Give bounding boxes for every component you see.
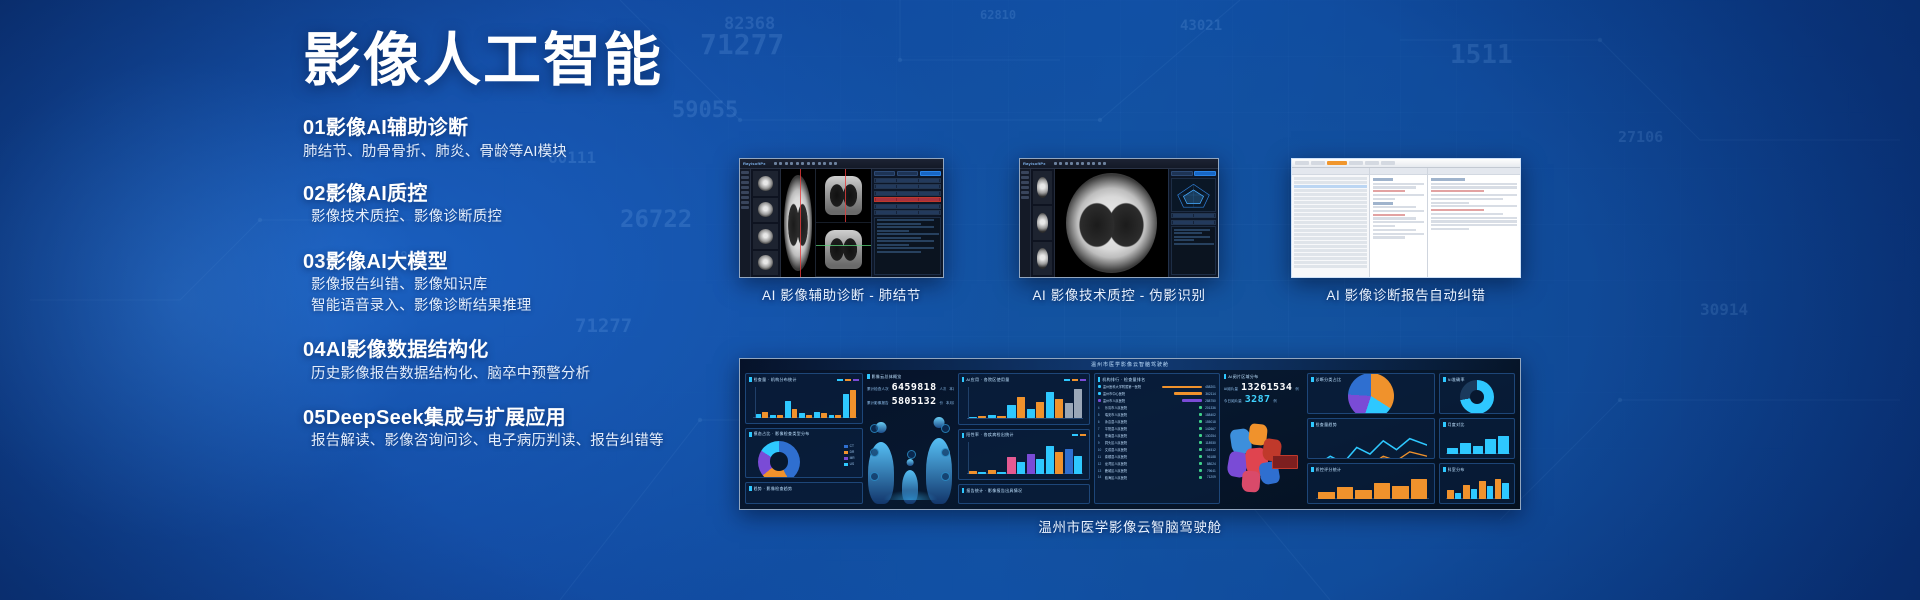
card-tag (749, 432, 752, 437)
bar-chart (1447, 476, 1509, 498)
toolbar-button[interactable] (1349, 161, 1363, 165)
doc-line (1373, 206, 1416, 208)
card-tag (1443, 422, 1446, 427)
ranking-row[interactable]: 10文成县人民医院104512 (1098, 447, 1216, 452)
background-vignette (0, 0, 1920, 600)
correction-line (1431, 228, 1469, 230)
ct-secondary-viewports[interactable] (815, 169, 871, 277)
card-legend (1064, 379, 1086, 381)
toolbar-icon[interactable] (1103, 162, 1106, 165)
toolbar-icon[interactable] (1054, 162, 1057, 165)
dashboard-column-1: 检查量 · 机构分布统计 (745, 373, 863, 504)
toolbar-icon[interactable] (1065, 162, 1068, 165)
qc-buttons[interactable] (1171, 171, 1216, 176)
ranking-row[interactable]: 8苍南县人民医院130254 (1098, 433, 1216, 438)
rank-chip (1199, 413, 1202, 416)
kpi-value: 13261534 (1241, 382, 1292, 393)
card-region-map[interactable]: AI阅片区域分布 AI阅片量 13261534 例 今日阅片量 3287 (1224, 373, 1303, 504)
report-text-area[interactable] (874, 217, 941, 276)
card-header: 机构排行 · 检查量排名 (1098, 376, 1216, 383)
feature-desc-03: 影像报告纠错、影像知识库 智能语音录入、影像诊断结果推理 (303, 275, 723, 317)
toolbar-icon[interactable] (1081, 162, 1084, 165)
worklist-row[interactable] (1294, 253, 1367, 256)
screenshot-panel-ai-diagnosis[interactable]: RayisoftPx (739, 158, 944, 278)
worklist-row[interactable] (1294, 261, 1367, 264)
rail-icon[interactable] (741, 201, 749, 204)
thumbnail[interactable] (1033, 206, 1052, 239)
series-thumbnails[interactable] (751, 169, 781, 277)
findings-panel[interactable] (871, 169, 943, 277)
rank-name: 苍南县人民医院 (1105, 433, 1197, 438)
findings-button[interactable] (874, 171, 895, 176)
card-tag (1311, 467, 1314, 472)
toolbar-icon[interactable] (774, 162, 777, 165)
worklist-row[interactable] (1294, 237, 1367, 240)
doc-line (1373, 210, 1424, 212)
thumbnail[interactable] (753, 198, 778, 223)
ct-axial-image (1066, 173, 1156, 272)
worklist-header (1292, 168, 1369, 175)
ranking-row[interactable]: 7平阳县人民医院142667 (1098, 426, 1216, 431)
correction-line (1431, 202, 1469, 204)
rank-chip (1199, 434, 1202, 437)
doc-line (1373, 217, 1416, 219)
card-report-summary[interactable]: 报告统计 · 影像报告出具情况 (958, 484, 1090, 504)
worklist-rows[interactable] (1292, 175, 1369, 277)
worklist-row[interactable] (1294, 177, 1367, 180)
worklist-row[interactable] (1294, 233, 1367, 236)
pacs-left-rail[interactable] (1020, 169, 1031, 277)
rank-chip (1098, 385, 1101, 388)
bar-chart (1447, 431, 1509, 453)
card-title: AI准确率 (1448, 377, 1465, 383)
card-tag (1443, 467, 1446, 472)
rank-name: 文成县人民医院 (1105, 447, 1197, 452)
pacs-left-rail[interactable] (740, 169, 751, 277)
finding-row[interactable] (874, 204, 941, 209)
card-exam-volume[interactable]: 检查量 · 机构分布统计 (745, 373, 863, 424)
findings-buttons[interactable] (874, 171, 941, 176)
toolbar-icon[interactable] (829, 162, 832, 165)
worklist-row[interactable] (1294, 201, 1367, 204)
kpi-label: AI阅片量 (1224, 387, 1238, 392)
card-trend-mini[interactable]: 趋势 · 影像检查趋势 (745, 482, 863, 504)
toolbar-icon[interactable] (1092, 162, 1095, 165)
dashboard: 温州市医学影像云智脑驾驶舱 检查量 · 机构分布统计 (740, 359, 1520, 509)
ct-coronal-viewport[interactable] (816, 169, 871, 223)
card-tag (962, 433, 965, 438)
rank-name: 温州市中心医院 (1103, 391, 1172, 396)
dashboard-column-6: 诊断分类占比 检查量趋势 (1307, 373, 1435, 504)
ct-axial-viewport[interactable] (781, 169, 815, 277)
toolbar-icon[interactable] (796, 162, 799, 165)
rank-value: 458201 (1204, 385, 1216, 389)
toolbar-button[interactable] (1365, 161, 1379, 165)
rank-value: 79641 (1204, 469, 1216, 473)
toolbar-icon[interactable] (823, 162, 826, 165)
ct-sagittal-viewport[interactable] (816, 223, 871, 277)
card-tag (1098, 377, 1101, 382)
finding-row[interactable] (874, 184, 941, 189)
rank-chip (1199, 476, 1202, 479)
rail-icon[interactable] (1021, 196, 1029, 199)
card-header: 趋势 · 影像检查趋势 (749, 485, 859, 492)
worklist-row[interactable] (1294, 257, 1367, 260)
card-legend (837, 379, 859, 381)
screenshot-frame: RayisoftPx (739, 158, 944, 278)
thumbnail[interactable] (753, 224, 778, 249)
card-tag (1224, 374, 1227, 379)
thumb-image (758, 202, 774, 217)
ranking-row[interactable]: 温州市中心医院362114 (1098, 391, 1216, 396)
toolbar-icon[interactable] (1076, 162, 1079, 165)
thumb-image (1037, 213, 1049, 234)
rail-icon[interactable] (741, 181, 749, 184)
rail-icon[interactable] (1021, 171, 1029, 174)
doc-line (1373, 186, 1416, 188)
toolbar-icon[interactable] (1070, 162, 1073, 165)
kpi-row: 今日阅片量 3287 例 (1224, 394, 1303, 405)
rank-chip (1199, 448, 1202, 451)
thumb-image (758, 229, 774, 244)
rank-value: 201336 (1204, 406, 1216, 410)
rank-name: 泰顺县人民医院 (1105, 454, 1197, 459)
feature-desc-05: 报告解读、影像咨询问诊、电子病历判读、报告纠错等 (303, 431, 723, 452)
ranking-row[interactable]: 温州医科大学附属第一医院458201 (1098, 384, 1216, 389)
worklist-row[interactable] (1294, 225, 1367, 228)
card-ai-positive-rate[interactable]: 阳性率 · 各疾病检出统计 (958, 429, 1090, 481)
card-title: 检查量趋势 (1316, 422, 1338, 428)
card-body (1443, 383, 1511, 411)
rank-value: 362114 (1204, 392, 1216, 396)
worklist-row[interactable] (1294, 265, 1367, 268)
doc-line (1373, 225, 1395, 227)
screenshot-panel-dashboard[interactable]: 温州市医学影像云智脑驾驶舱 检查量 · 机构分布统计 (739, 358, 1521, 510)
map-region[interactable] (1241, 471, 1260, 493)
card-line-trend[interactable]: 检查量趋势 (1307, 418, 1435, 459)
correction-line (1431, 194, 1517, 196)
thumbnail[interactable] (753, 171, 778, 196)
qc-row[interactable] (1171, 220, 1216, 225)
correction-line (1431, 220, 1517, 222)
report-document[interactable] (1370, 175, 1427, 277)
dashboard-grid: 检查量 · 机构分布统计 (740, 370, 1520, 509)
card-ai-usage[interactable]: AI应用 · 各院区使用量 (958, 373, 1090, 425)
card-institution-ranking[interactable]: 机构排行 · 检查量排名 温州医科大学附属第一医院458201 温州市中心医院3… (1094, 373, 1220, 504)
document-header (1370, 168, 1427, 175)
card-title: 阳性率 · 各疾病检出统计 (966, 432, 1013, 438)
ranking-row[interactable]: 温州市人民医院288750 (1098, 398, 1216, 403)
doc-line-error (1373, 214, 1405, 216)
rank-index: 13 (1098, 469, 1103, 473)
line-chart (1317, 432, 1427, 459)
toolbar-icon[interactable] (1087, 162, 1090, 165)
toolbar-icons[interactable] (774, 162, 838, 165)
rail-icon[interactable] (741, 171, 749, 174)
toolbar-icon[interactable] (1098, 162, 1101, 165)
worklist-row[interactable] (1294, 245, 1367, 248)
card-title: 趋势 · 影像检查趋势 (754, 486, 793, 492)
rail-icon[interactable] (1021, 181, 1029, 184)
card-title: 机构排行 · 检查量排名 (1102, 377, 1145, 383)
pacs-toolbar[interactable]: RayisoftPx (1020, 159, 1218, 169)
worklist-row-selected[interactable] (1294, 185, 1367, 188)
screenshot-panel-ai-quality-control[interactable]: RayisoftPx (1019, 158, 1219, 278)
feature-desc-line: 智能语音录入、影像诊断结果推理 (311, 296, 723, 317)
pie-chart (1348, 373, 1394, 414)
card-bar-extra[interactable]: 质控评分统计 (1307, 463, 1435, 504)
rail-icon[interactable] (741, 206, 749, 209)
finding-row[interactable] (874, 210, 941, 215)
card-body (1311, 383, 1431, 411)
rank-chip (1199, 455, 1202, 458)
worklist-row[interactable] (1294, 221, 1367, 224)
card-body (962, 439, 1086, 478)
ranking-row[interactable]: 14瓯海区人民医院71209 (1098, 475, 1216, 480)
finding-row[interactable] (874, 178, 941, 183)
report-document-panel[interactable] (1370, 168, 1428, 277)
card-tag (962, 377, 965, 382)
worklist-panel[interactable] (1292, 168, 1370, 277)
feature-desc-line: 历史影像报告数据结构化、脑卒中预警分析 (311, 364, 723, 385)
card-stacked-right[interactable]: 科室分布 (1439, 463, 1515, 504)
worklist-row[interactable] (1294, 181, 1367, 184)
rank-name: 龙湾区人民医院 (1105, 461, 1197, 466)
doc-line (1373, 236, 1405, 238)
rank-index: 6 (1098, 420, 1103, 424)
ranking-row[interactable]: 11泰顺县人民医院96188 (1098, 454, 1216, 459)
finding-row-alert[interactable] (874, 197, 941, 202)
rank-chip (1199, 441, 1202, 444)
card-bar-right[interactable]: 月度对比 (1439, 418, 1515, 459)
qc-button-primary[interactable] (1194, 171, 1216, 176)
rank-chip (1199, 420, 1202, 423)
card-title: 月度对比 (1448, 422, 1465, 428)
rank-chip (1199, 406, 1202, 409)
rank-value: 104512 (1204, 448, 1216, 452)
kpi-value: 3287 (1245, 394, 1271, 405)
card-legend (1072, 434, 1086, 436)
toolbar-icon[interactable] (812, 162, 815, 165)
card-body (1443, 428, 1511, 456)
feature-list: 01影像AI辅助诊断 肺结节、肋骨骨折、肺炎、骨龄等AI模块 02影像AI质控 … (303, 115, 723, 452)
toolbar-button[interactable] (1295, 161, 1309, 165)
qc-radar-chart (1171, 178, 1216, 212)
crosshair-vertical (845, 169, 846, 222)
rail-icon[interactable] (741, 176, 749, 179)
background: 8236871277590552672215116011143021712772… (0, 0, 1920, 600)
ranking-row[interactable]: 13鹿城区人民医院79641 (1098, 468, 1216, 473)
worklist-row[interactable] (1294, 189, 1367, 192)
rank-chip (1098, 392, 1101, 395)
feature-desc-line: 影像技术质控、影像诊断质控 (311, 207, 723, 228)
page-title: 影像人工智能 (303, 30, 723, 91)
card-modality-ratio[interactable]: 模态占比 · 影像检查类型分布 CT DR MR US (745, 428, 863, 479)
toolbar-icon[interactable] (818, 162, 821, 165)
ranking-row[interactable]: 6永嘉县人民医院155018 (1098, 419, 1216, 424)
rail-icon[interactable] (741, 196, 749, 199)
worklist-row[interactable] (1294, 209, 1367, 212)
app-logo: RayisoftPx (1023, 161, 1046, 166)
card-header: 质控评分统计 (1311, 466, 1431, 473)
thumbnail[interactable] (1033, 171, 1052, 204)
kpi-group-ai: AI阅片量 13261534 例 今日阅片量 3287 例 (1224, 380, 1303, 405)
rank-name: 瑞安市人民医院 (1105, 412, 1197, 417)
doc-line (1373, 229, 1416, 231)
region-map[interactable] (1227, 423, 1300, 496)
rank-index: 11 (1098, 455, 1103, 459)
rank-index: 8 (1098, 434, 1103, 438)
feature-item-04: 04AI影像数据结构化 历史影像报告数据结构化、脑卒中预警分析 (303, 337, 723, 385)
ranking-row[interactable]: 4乐清市人民医院201336 (1098, 405, 1216, 410)
rail-icon[interactable] (1021, 176, 1029, 179)
kpi-label: 累计检查人次 (867, 387, 889, 392)
feature-desc-04: 历史影像报告数据结构化、脑卒中预警分析 (303, 364, 723, 385)
crosshair-vertical (800, 169, 801, 277)
qc-row[interactable] (1171, 213, 1216, 218)
card-title: AI应用 · 各院区使用量 (966, 377, 1009, 383)
gauge-ring (1460, 380, 1494, 414)
organ-icon[interactable] (907, 450, 916, 459)
card-diagnosis-pie[interactable]: 诊断分类占比 (1307, 373, 1435, 414)
report-toolbar[interactable] (1292, 159, 1520, 168)
card-title: 影像云总体概览 (872, 374, 902, 380)
card-tag (867, 374, 870, 379)
toolbar-icon[interactable] (790, 162, 793, 165)
dashboard-column-2: 影像云总体概览 累计检查人次 6459818 人次 本月新增 408864 人次 (867, 373, 954, 504)
card-title: 检查量 · 机构分布统计 (754, 377, 797, 383)
feature-title-02: 02影像AI质控 (303, 181, 723, 207)
screenshot-panel-report-correction[interactable]: AI 影像诊断报告自动纠错 (1291, 158, 1521, 278)
toolbar-button-highlight[interactable] (1327, 161, 1347, 165)
feature-desc-01: 肺结节、肋骨骨折、肺炎、骨龄等AI模块 (303, 142, 723, 163)
correction-line (1431, 205, 1517, 207)
worklist-row[interactable] (1294, 229, 1367, 232)
rank-chip (1199, 469, 1202, 472)
screenshot-frame (1291, 158, 1521, 278)
rank-index: 7 (1098, 427, 1103, 431)
finding-row[interactable] (874, 191, 941, 196)
thumbnail[interactable] (1033, 242, 1052, 275)
qc-panel[interactable] (1168, 169, 1218, 277)
card-kpi: 影像云总体概览 累计检查人次 6459818 人次 本月新增 408864 人次 (867, 373, 954, 407)
thumbnail[interactable] (753, 251, 778, 276)
feature-desc-02: 影像技术质控、影像诊断质控 (303, 207, 723, 228)
worklist-row[interactable] (1294, 217, 1367, 220)
card-tag (1311, 377, 1314, 382)
worklist-row[interactable] (1294, 241, 1367, 244)
worklist-row[interactable] (1294, 249, 1367, 252)
toolbar-button[interactable] (1381, 161, 1395, 165)
toolbar-button[interactable] (1311, 161, 1325, 165)
card-human-visual (867, 411, 954, 504)
feature-title-05: 05DeepSeek集成与扩展应用 (303, 405, 723, 431)
rank-value: 288750 (1204, 399, 1216, 403)
correction-list[interactable] (1428, 175, 1520, 277)
doc-line (1373, 183, 1424, 185)
pacs-body (1020, 169, 1218, 277)
correction-panel[interactable] (1428, 168, 1520, 277)
ranking-list[interactable]: 温州医科大学附属第一医院458201 温州市中心医院362114 温州市人民医院… (1098, 383, 1216, 501)
thumb-image (1037, 177, 1049, 198)
toolbar-icon[interactable] (785, 162, 788, 165)
feature-title-04: 04AI影像数据结构化 (303, 337, 723, 363)
card-header: 月度对比 (1443, 421, 1511, 428)
rank-value: 188402 (1204, 413, 1216, 417)
rank-value: 155018 (1204, 420, 1216, 424)
thumb-image (1037, 248, 1049, 269)
rank-name: 永嘉县人民医院 (1105, 419, 1197, 424)
toolbar-icon[interactable] (1059, 162, 1062, 165)
kpi-row: 累计检查人次 6459818 人次 本月新增 408864 人次 (867, 382, 954, 393)
screenshot-caption-3: AI 影像诊断报告自动纠错 (1291, 284, 1521, 304)
correction-header (1428, 168, 1520, 175)
bar-chart (1318, 476, 1427, 498)
thumb-image (758, 255, 774, 270)
dashboard-column-3: AI应用 · 各院区使用量 (958, 373, 1090, 504)
kpi-row: AI阅片量 13261534 例 (1224, 382, 1303, 393)
rank-name: 鹿城区人民医院 (1105, 468, 1197, 473)
dashboard-column-7: AI准确率 月度对比 (1439, 373, 1515, 504)
pacs-toolbar[interactable]: RayisoftPx (740, 159, 943, 169)
toolbar-icon[interactable] (807, 162, 810, 165)
findings-button-primary[interactable] (920, 171, 941, 176)
ranking-row[interactable]: 5瑞安市人民医院188402 (1098, 412, 1216, 417)
thumb-image (758, 176, 774, 191)
card-title: 质控评分统计 (1316, 467, 1342, 473)
kpi-value: 6459818 (892, 382, 937, 393)
ct-axial-image (784, 175, 813, 270)
rank-value: 71209 (1204, 475, 1216, 479)
pacs-viewer: RayisoftPx (1020, 159, 1218, 277)
card-header: AI应用 · 各院区使用量 (962, 376, 1086, 383)
findings-button[interactable] (897, 171, 918, 176)
rail-icon[interactable] (1021, 191, 1029, 194)
toolbar-icon[interactable] (834, 162, 837, 165)
card-title: 诊断分类占比 (1316, 377, 1342, 383)
toolbar-icons[interactable] (1054, 162, 1107, 165)
correction-line-error (1431, 190, 1484, 192)
kpi-unit: 例 (1295, 386, 1298, 391)
dashboard-frame: 温州市医学影像云智脑驾驶舱 检查量 · 机构分布统计 (739, 358, 1521, 510)
worklist-row[interactable] (1294, 205, 1367, 208)
ranking-row[interactable]: 12龙湾区人民医院88024 (1098, 461, 1216, 466)
card-header: AI阅片区域分布 (1224, 373, 1303, 380)
toolbar-icon[interactable] (801, 162, 804, 165)
ranking-row[interactable]: 9洞头区人民医院118930 (1098, 440, 1216, 445)
card-ring-gauge[interactable]: AI准确率 (1439, 373, 1515, 414)
content-column: 影像人工智能 01影像AI辅助诊断 肺结节、肋骨骨折、肺炎、骨龄等AI模块 02… (303, 30, 723, 464)
series-thumbnails[interactable] (1031, 169, 1055, 277)
toolbar-icon[interactable] (779, 162, 782, 165)
worklist-row[interactable] (1294, 197, 1367, 200)
correction-line (1431, 183, 1517, 185)
worklist-row[interactable] (1294, 213, 1367, 216)
qc-button[interactable] (1171, 171, 1193, 176)
rank-name: 乐清市人民医院 (1105, 405, 1197, 410)
kpi-label: 本月新增 (946, 401, 954, 406)
rail-icon[interactable] (741, 191, 749, 194)
feature-item-02: 02影像AI质控 影像技术质控、影像诊断质控 (303, 181, 723, 229)
worklist-row[interactable] (1294, 193, 1367, 196)
ct-axial-viewport[interactable] (1055, 169, 1168, 277)
qc-text-area[interactable] (1171, 226, 1216, 275)
dashboard-column-4: 机构排行 · 检查量排名 温州医科大学附属第一医院458201 温州市中心医院3… (1094, 373, 1220, 504)
rail-icon[interactable] (1021, 186, 1029, 189)
correction-heading (1431, 178, 1465, 181)
kpi-label: 累计影像报告 (867, 401, 889, 406)
rail-icon[interactable] (741, 186, 749, 189)
